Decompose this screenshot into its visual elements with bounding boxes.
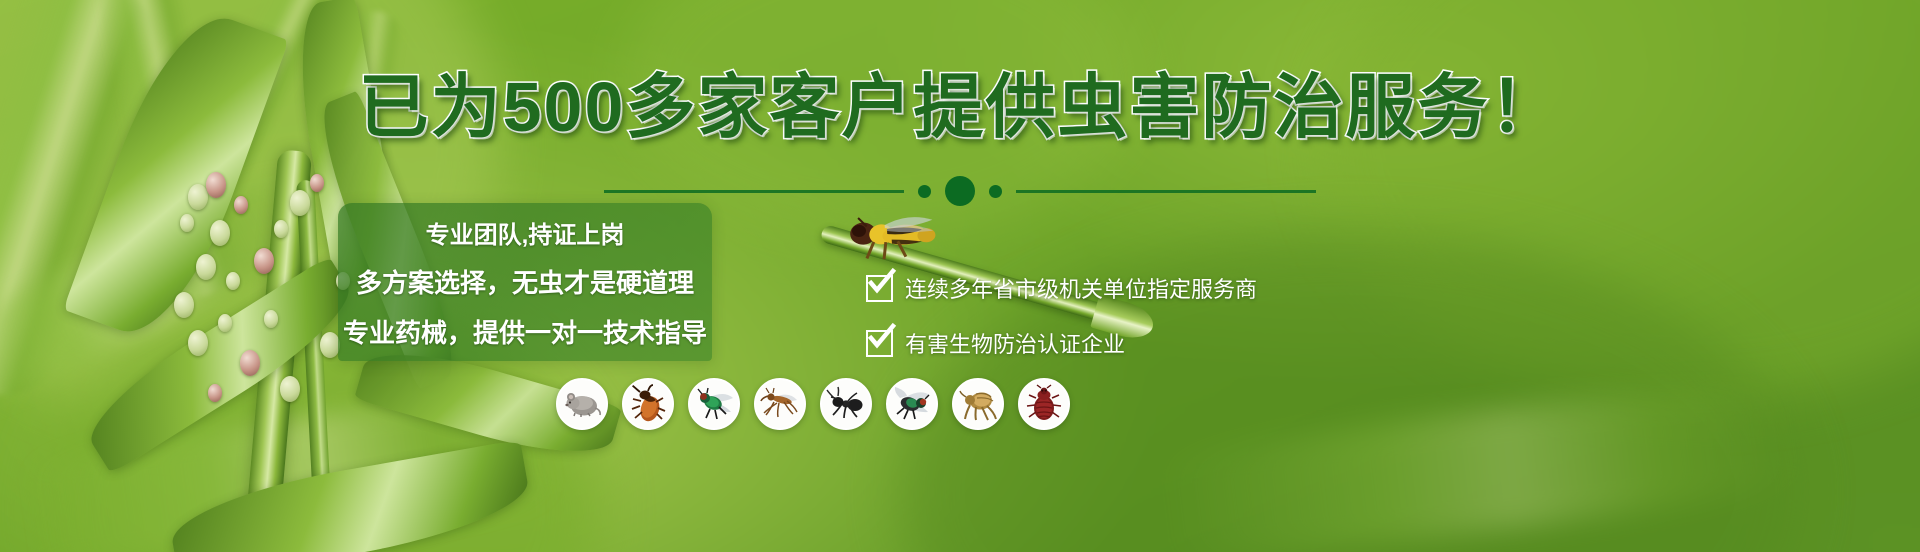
list-item: 连续多年省市级机关单位指定服务商 [866, 272, 1257, 304]
flower-bud [274, 220, 288, 238]
pest-icon-mosquito[interactable] [754, 378, 806, 430]
selling-point-line-1: 专业团队,持证上岗 [426, 215, 625, 250]
flower-bud [196, 254, 216, 280]
decorative-dot-large [945, 176, 975, 206]
checkbox-checked-icon [866, 330, 893, 357]
flower-bud [210, 220, 230, 246]
pest-icon-mouse[interactable] [556, 378, 608, 430]
selling-points-panel: 专业团队,持证上岗 多方案选择，无虫才是硬道理 专业药械，提供一对一技术指导 [338, 203, 712, 361]
flower-bud [188, 330, 208, 356]
pest-icon-housefly[interactable] [886, 378, 938, 430]
page-title: 已为500多家客户提供虫害防治服务！ [0, 72, 1920, 142]
certification-label: 连续多年省市级机关单位指定服务商 [905, 272, 1257, 304]
flower-bud [264, 310, 278, 328]
flower-bud [208, 384, 222, 402]
pest-icon-blowfly[interactable] [688, 378, 740, 430]
list-item: 有害生物防治认证企业 [866, 327, 1257, 359]
divider-line-left [604, 190, 904, 193]
mouse-icon [562, 384, 602, 424]
pest-icon-ant[interactable] [820, 378, 872, 430]
blowfly-icon [694, 384, 734, 424]
flower-bud [218, 314, 232, 332]
ant-icon [826, 384, 866, 424]
promo-banner: 已为500多家客户提供虫害防治服务！ 专业团队,持证上岗 多方案选择，无虫才是硬… [0, 0, 1920, 552]
flower-bud [226, 272, 240, 290]
selling-point-line-3: 专业药械，提供一对一技术指导 [343, 313, 707, 350]
decorative-dot [989, 185, 1002, 198]
decorative-dot [918, 185, 931, 198]
bedbug-icon [1024, 384, 1064, 424]
pest-icon-cockroach[interactable] [622, 378, 674, 430]
flower-bud [174, 292, 194, 318]
flower-bud [254, 248, 274, 274]
certification-label: 有害生物防治认证企业 [905, 327, 1125, 359]
headline-text: 已为500多家客户提供虫害防治服务！ [359, 68, 1562, 146]
flower-bud [320, 332, 340, 358]
checkbox-checked-icon [866, 275, 893, 302]
pest-type-list [556, 378, 1070, 430]
flea-icon [958, 384, 998, 424]
mosquito-icon [760, 384, 800, 424]
hoverfly-icon [840, 211, 953, 265]
flower-bud [240, 350, 260, 376]
cockroach-icon [628, 384, 668, 424]
flower-bud [180, 214, 194, 232]
selling-point-line-2: 多方案选择，无虫才是硬道理 [356, 263, 694, 300]
housefly-icon [892, 384, 932, 424]
pest-icon-bedbug[interactable] [1018, 378, 1070, 430]
divider-line-right [1016, 190, 1316, 193]
certification-list: 连续多年省市级机关单位指定服务商 有害生物防治认证企业 [866, 272, 1257, 359]
flower-bud [280, 376, 300, 402]
decorative-divider [0, 176, 1920, 206]
pest-icon-flea[interactable] [952, 378, 1004, 430]
